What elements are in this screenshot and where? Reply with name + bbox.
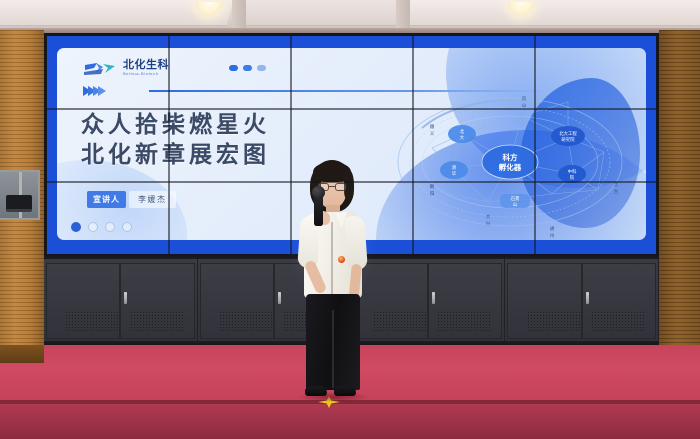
brand-logo: 北化生科 Beihua-Biotech: [83, 60, 169, 76]
dot-2: [243, 65, 252, 71]
slide-title: 众人拾柴燃星火 北化新章展宏图: [81, 110, 270, 170]
glasses-lens-right: [335, 183, 346, 191]
woman-presenter: [288, 160, 376, 405]
diagram-center-node-label-1: 科方: [503, 152, 518, 162]
cabinet-vent: [219, 311, 274, 333]
shirt-placket: [331, 222, 333, 294]
diagram-ring-label-3a: 朝: [430, 184, 435, 190]
red-pin-badge: [338, 256, 345, 263]
diagram-ring-label-6a: 丰: [614, 181, 619, 188]
shirt-sleeve-right: [344, 215, 368, 270]
cabinet-vent: [591, 311, 646, 333]
control-booth-window: [0, 170, 40, 220]
scene-photograph: 北化生科 Beihua-Biotech: [0, 0, 700, 439]
ceiling-coffer-right: [397, 0, 700, 26]
diagram-node-label-2b: 华: [452, 170, 457, 177]
diagram-ring-label-4a: 大: [486, 213, 491, 220]
slide-dots-decor: [229, 65, 266, 71]
floor-wood-strip: [0, 345, 44, 363]
cabinet-handle[interactable]: [432, 292, 435, 304]
record-icon[interactable]: [71, 222, 81, 232]
ceiling-coffer-center: [246, 0, 406, 26]
play-icon[interactable]: [88, 222, 98, 232]
diagram-ring-label-5b: 州: [550, 233, 555, 238]
cabinet-vent: [373, 311, 428, 333]
slide-title-line-2: 北化新章展宏图: [81, 140, 270, 170]
diagram-ring-label-1b: 山: [522, 102, 527, 109]
bh-monogram-icon: [83, 61, 117, 76]
diagram-ring-label-2b: 义: [430, 131, 435, 136]
chevron-right-icon-4: [98, 86, 106, 96]
glasses-bridge: [329, 186, 335, 187]
diagram-node-label-4a: 中科: [568, 168, 577, 175]
diagram-node-label-1a: 北: [460, 128, 465, 135]
cabinet-handle[interactable]: [124, 292, 127, 304]
incubator-network-diagram: 科方 孵化器 北 大 清 华 北大工程: [392, 82, 642, 240]
cabinet-handle[interactable]: [586, 292, 589, 304]
diagram-ring-label-6b: 台: [614, 188, 619, 195]
diagram-ring-label-3b: 阳: [430, 190, 435, 197]
diagram-node-label-2a: 清: [452, 164, 457, 171]
cabinet-vent: [130, 311, 185, 333]
shoe-right: [334, 386, 356, 396]
brand-name-en: Beihua-Biotech: [123, 71, 169, 76]
diagram-center-node-label-2: 孵化器: [498, 162, 522, 172]
diagram-node-label-3b: 研究院: [561, 136, 575, 143]
ceiling: [0, 0, 700, 30]
slide-toolbar[interactable]: [71, 222, 132, 232]
diagram-node-label-3a: 北大工程: [559, 130, 577, 137]
dot-3: [257, 65, 266, 71]
cabinet-bay[interactable]: [44, 259, 198, 345]
dot-1: [229, 65, 238, 71]
cabinet-bay[interactable]: [505, 259, 659, 345]
cabinet-vent: [65, 311, 120, 333]
speaker-role-badge: 宣讲人: [87, 191, 126, 208]
speaker-credit: 宣讲人 李媛杰: [87, 191, 176, 208]
stage-front-face: [0, 404, 700, 439]
chevron-decor: [83, 86, 103, 96]
cabinet-handle[interactable]: [278, 292, 281, 304]
brand-name-cn: 北化生科: [123, 60, 169, 71]
microphone-head: [312, 186, 325, 199]
slide-title-line-1: 众人拾柴燃星火: [81, 110, 270, 140]
diagram-ring-label-4b: 兴: [486, 220, 491, 227]
diagram-node-label-5b: 山: [513, 201, 517, 208]
cabinet-vent: [527, 311, 582, 333]
diagram-ring-label-1a: 房: [522, 95, 527, 102]
ceiling-beam-right: [396, 0, 410, 28]
speaker-name-label: 李媛杰: [129, 191, 176, 208]
diagram-node-label-4b: 院: [570, 174, 575, 181]
shoe-left: [305, 386, 327, 396]
cabinet-vent: [437, 311, 492, 333]
trouser-seam: [332, 310, 334, 388]
diagram-ring-label-2a: 顺: [430, 124, 435, 130]
pen-icon[interactable]: [105, 222, 115, 232]
diagram-ring-label-5a: 通: [550, 225, 555, 232]
booth-monitor: [6, 195, 32, 212]
settings-icon[interactable]: [122, 222, 132, 232]
ceiling-beam-left: [232, 0, 246, 28]
diagram-node-label-1b: 大: [460, 134, 465, 141]
